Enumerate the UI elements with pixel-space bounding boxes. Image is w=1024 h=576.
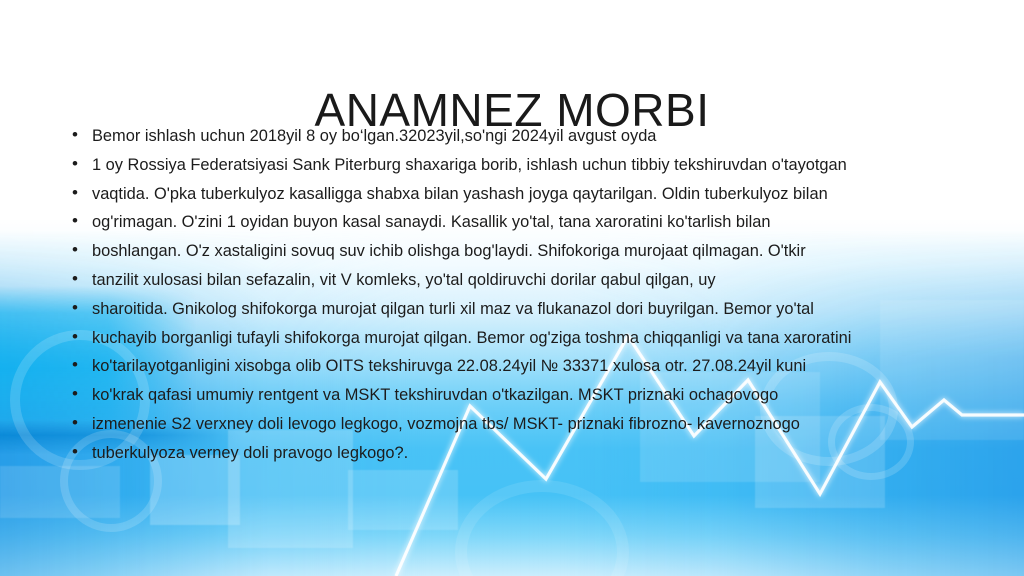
list-item: sharoitida. Gnikolog shifokorga murojat …	[66, 295, 966, 324]
list-item: boshlangan. O'z xastaligini sovuq suv ic…	[66, 237, 966, 266]
list-item: 1 oy Rossiya Federatsiyasi Sank Piterbur…	[66, 151, 966, 180]
slide-content: ANAMNEZ MORBI Bemor ishlash uchun 2018yi…	[0, 0, 1024, 576]
list-item: ko'tarilayotganligini xisobga olib OITS …	[66, 352, 966, 381]
list-item: vaqtida. O'pka tuberkulyoz kasalligga sh…	[66, 180, 966, 209]
list-item: izmenenie S2 verxney doli levogo legkogo…	[66, 410, 966, 439]
list-item: og'rimagan. O'zini 1 oyidan buyon kasal …	[66, 208, 966, 237]
bullet-list: Bemor ishlash uchun 2018yil 8 oy bo‘lgan…	[66, 122, 966, 468]
list-item: kuchayib borganligi tufayli shifokorga m…	[66, 324, 966, 353]
presentation-slide: ANAMNEZ MORBI Bemor ishlash uchun 2018yi…	[0, 0, 1024, 576]
list-item: Bemor ishlash uchun 2018yil 8 oy bo‘lgan…	[66, 122, 966, 151]
list-item: ko'krak qafasi umumiy rentgent va MSKT t…	[66, 381, 966, 410]
list-item: tuberkulyoza verney doli pravogo legkogo…	[66, 439, 966, 468]
list-item: tanzilit xulosasi bilan sefazalin, vit V…	[66, 266, 966, 295]
